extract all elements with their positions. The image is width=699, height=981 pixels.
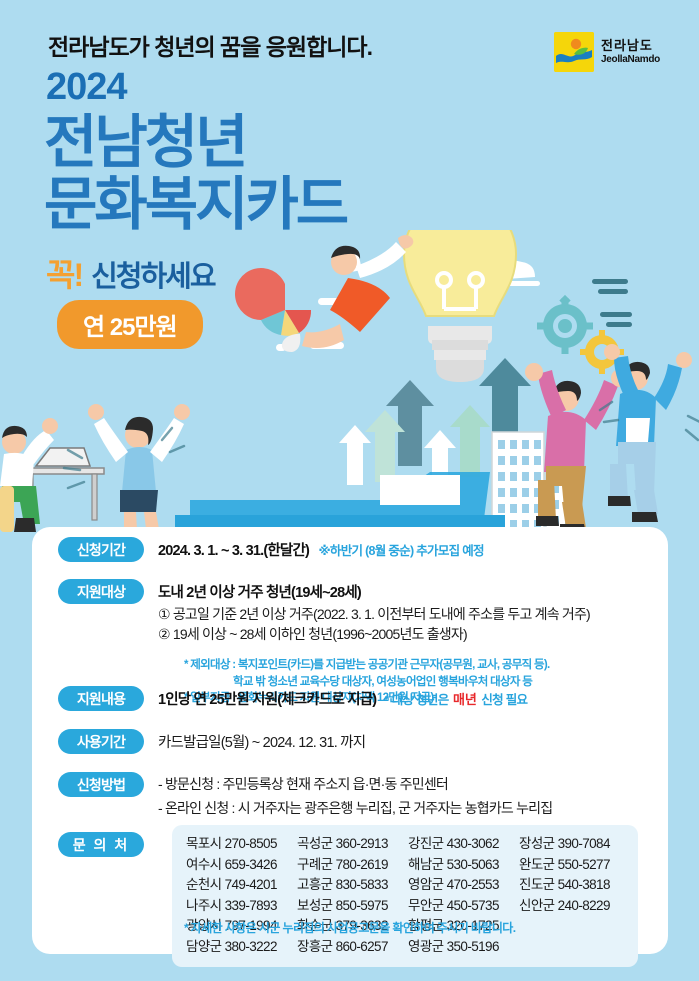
contact-column-3: 강진군 430-3062 해남군 530-5063 영암군 470-2553 무…: [408, 834, 513, 957]
logo-name-ko: 전라남도: [601, 39, 660, 54]
poster-root: 전라남도가 청년의 꿈을 응원합니다. 2024 전남청년 문화복지카드 꼭!신…: [0, 0, 699, 981]
application-period-value: 2024. 3. 1. ~ 3. 31.(한달간): [158, 543, 309, 559]
contact-item: 장흥군 860-6257: [297, 937, 402, 958]
person-desk-icon: [0, 418, 104, 532]
contact-item: 담양군 380-3222: [186, 937, 291, 958]
application-period-note: ※하반기 (8월 중순) 추가모집 예정: [318, 544, 483, 558]
support-content-note-after: 신청 필요: [481, 693, 527, 707]
contact-item: 해남군 530-5063: [408, 855, 513, 876]
logo-text: 전라남도 JeollaNamdo: [601, 39, 660, 65]
jeollanamdo-logo: 전라남도 JeollaNamdo: [554, 32, 660, 72]
contact-item: 나주시 339-7893: [186, 896, 291, 917]
support-content-value: 1인당 연 25만원 지원(체크카드로 지급): [158, 692, 376, 708]
label-application-method: 신청방법: [58, 772, 144, 797]
footnote: * 자세한 사항은 시군 누리집의 사업공고문을 확인하여 주시기 바랍니다.: [184, 919, 515, 936]
logo-mark-icon: [554, 32, 594, 72]
application-method-item-2: - 온라인 신청 : 시 거주자는 광주은행 누리집, 군 거주자는 농협카드 …: [158, 798, 552, 818]
contact-item: 여수시 659-3426: [186, 855, 291, 876]
application-method-item-1: - 방문신청 : 주민등록상 현재 주소지 읍·면·동 주민센터: [158, 774, 552, 794]
contact-item: 진도군 540-3818: [519, 875, 624, 896]
row-contact: 문 의 처: [58, 832, 158, 857]
usage-period-value: 카드발급일(5월) ~ 2024. 12. 31. 까지: [158, 735, 365, 751]
contact-item: 곡성군 360-2913: [297, 834, 402, 855]
eligibility-item-2: ② 19세 이상 ~ 28세 이하인 청년(1996~2005년도 출생자): [158, 625, 590, 645]
contact-item: 고흥군 830-5833: [297, 875, 402, 896]
contact-item: 보성군 850-5975: [297, 896, 402, 917]
poster-title-line2: 문화복지카드: [44, 176, 346, 234]
contact-item: 구례군 780-2619: [297, 855, 402, 876]
logo-symbol-icon: [554, 32, 594, 72]
eligibility-item-1: ① 공고일 기준 2년 이상 거주(2022. 3. 1. 이전부터 도내에 주…: [158, 605, 590, 625]
person-jump-blue-icon: [604, 344, 692, 522]
year-label: 2024: [46, 66, 127, 109]
label-support-content: 지원내용: [58, 686, 144, 711]
label-contact: 문 의 처: [58, 832, 144, 857]
hero-illustration: [0, 230, 699, 550]
row-usage-period: 사용기간 카드발급일(5월) ~ 2024. 12. 31. 까지: [58, 729, 365, 754]
support-content-note-highlight: 매년: [453, 692, 477, 707]
headline: 전라남도가 청년의 꿈을 응원합니다.: [48, 28, 372, 62]
illustration-svg: [0, 230, 699, 550]
contact-box: 목포시 270-8505 여수시 659-3426 순천시 749-4201 나…: [172, 825, 638, 967]
info-card: 신청기간 2024. 3. 1. ~ 3. 31.(한달간) ※하반기 (8월 …: [32, 527, 668, 954]
application-period-body: 2024. 3. 1. ~ 3. 31.(한달간) ※하반기 (8월 중순) 추…: [158, 537, 484, 560]
contact-item: 신안군 240-8229: [519, 896, 624, 917]
row-application-method: 신청방법 - 방문신청 : 주민등록상 현재 주소지 읍·면·동 주민센터 - …: [58, 772, 552, 818]
application-method-body: - 방문신청 : 주민등록상 현재 주소지 읍·면·동 주민센터 - 온라인 신…: [158, 772, 552, 818]
poster-title-line1: 전남청년: [44, 114, 245, 172]
support-content-note: * 대상 청년은: [385, 693, 449, 707]
eligibility-main: 도내 2년 이상 거주 청년(19세~28세): [158, 581, 590, 602]
support-content-body: 1인당 연 25만원 지원(체크카드로 지급) * 대상 청년은 매년 신청 필…: [158, 686, 527, 709]
exclusion-line-1: * 제외대상 : 복지포인트(카드)를 지급받는 공공기관 근무자(공무원, 교…: [184, 657, 550, 674]
contact-column-1: 목포시 270-8505 여수시 659-3426 순천시 749-4201 나…: [186, 834, 291, 957]
logo-name-en: JeollaNamdo: [601, 54, 660, 66]
usage-period-body: 카드발급일(5월) ~ 2024. 12. 31. 까지: [158, 729, 365, 752]
eligibility-body: 도내 2년 이상 거주 청년(19세~28세) ① 공고일 기준 2년 이상 거…: [158, 579, 590, 645]
contact-column-4: 장성군 390-7084 완도군 550-5277 진도군 540-3818 신…: [519, 834, 624, 957]
eligibility-list: ① 공고일 기준 2년 이상 거주(2022. 3. 1. 이전부터 도내에 주…: [158, 605, 590, 645]
label-usage-period: 사용기간: [58, 729, 144, 754]
contact-column-2: 곡성군 360-2913 구례군 780-2619 고흥군 830-5833 보…: [297, 834, 402, 957]
row-eligibility: 지원대상 도내 2년 이상 거주 청년(19세~28세) ① 공고일 기준 2년…: [58, 579, 590, 645]
contact-item: 장성군 390-7084: [519, 834, 624, 855]
label-application-period: 신청기간: [58, 537, 144, 562]
contact-item: 순천시 749-4201: [186, 875, 291, 896]
contact-item: 완도군 550-5277: [519, 855, 624, 876]
label-eligibility: 지원대상: [58, 579, 144, 604]
person-flying-icon: [282, 235, 413, 352]
contact-item: 강진군 430-3062: [408, 834, 513, 855]
contact-item: 영암군 470-2553: [408, 875, 513, 896]
contact-item: 무안군 450-5735: [408, 896, 513, 917]
row-support-content: 지원내용 1인당 연 25만원 지원(체크카드로 지급) * 대상 청년은 매년…: [58, 686, 527, 711]
contact-item: 목포시 270-8505: [186, 834, 291, 855]
contact-item: 영광군 350-5196: [408, 937, 513, 958]
contact-grid: 목포시 270-8505 여수시 659-3426 순천시 749-4201 나…: [186, 834, 624, 957]
lightbulb-icon: [404, 230, 516, 382]
row-application-period: 신청기간 2024. 3. 1. ~ 3. 31.(한달간) ※하반기 (8월 …: [58, 537, 484, 562]
gear-icon: [537, 295, 593, 354]
